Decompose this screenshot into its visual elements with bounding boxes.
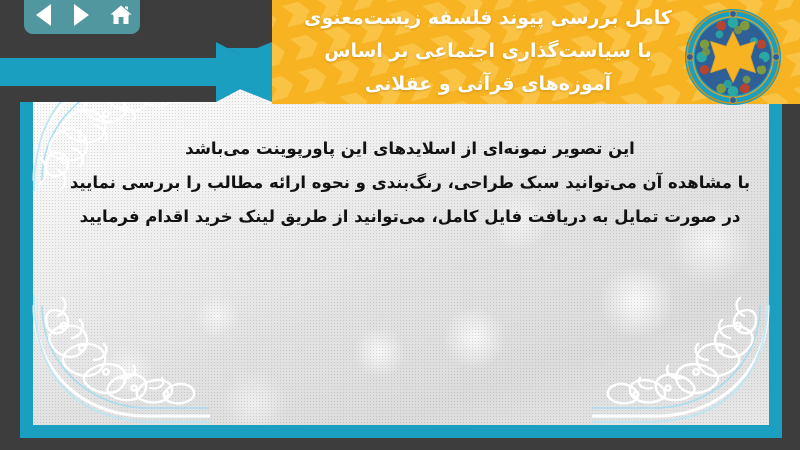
slide-body-text: این تصویر نمونه‌ای از اسلایدهای این پاور…: [48, 132, 772, 234]
halftone-texture: [33, 61, 769, 425]
prev-slide-button[interactable]: [30, 2, 56, 28]
next-slide-button[interactable]: [69, 2, 95, 28]
slide-frame: [20, 48, 782, 438]
presentation-slide: کامل بررسی پیوند فلسفه زیست‌معنوی با سیا…: [0, 0, 800, 450]
home-icon: [109, 3, 133, 27]
body-line-2: با مشاهده آن می‌توانید سبک طراحی، رنگ‌بن…: [48, 166, 772, 200]
body-line-1: این تصویر نمونه‌ای از اسلایدهای این پاور…: [48, 132, 772, 166]
triangle-right-icon: [74, 4, 89, 26]
islamic-medallion-icon: [684, 8, 782, 106]
home-button[interactable]: [108, 2, 134, 28]
triangle-left-icon: [36, 4, 51, 26]
title-line-2: با سیاست‌گذاری اجتماعی بر اساس: [288, 35, 688, 68]
slide-navigation-bar[interactable]: [24, 0, 140, 34]
slide-title: کامل بررسی پیوند فلسفه زیست‌معنوی با سیا…: [288, 2, 688, 101]
slide-content-area: [33, 61, 769, 425]
title-line-1: کامل بررسی پیوند فلسفه زیست‌معنوی: [288, 2, 688, 35]
body-line-3: در صورت تمایل به دریافت فایل کامل، می‌تو…: [48, 200, 772, 234]
title-line-3: آموزه‌های قرآنی و عقلانی: [288, 68, 688, 101]
